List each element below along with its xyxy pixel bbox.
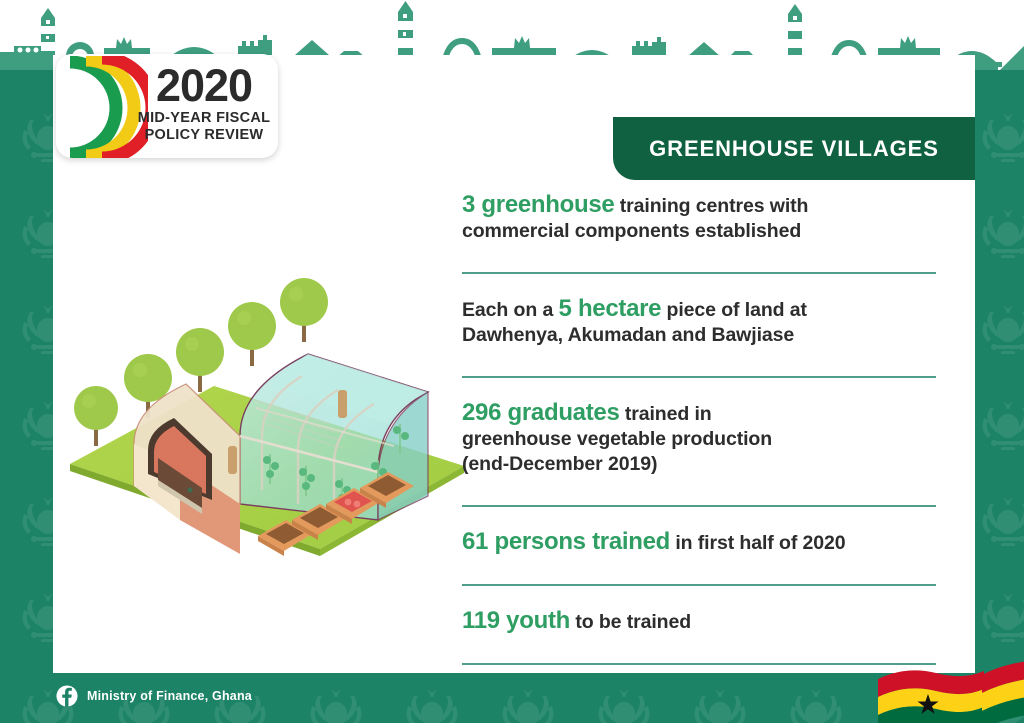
fact-text: Each on a 5 hectare piece of land at Daw…: [462, 296, 936, 348]
logo-subtitle-line2: POLICY REVIEW: [134, 127, 274, 144]
fact-normal: greenhouse vegetable production: [462, 428, 772, 450]
infographic-canvas: 2020 MID-YEAR FISCAL POLICY REVIEW GREEN…: [0, 0, 1024, 723]
fact-highlight: 3 greenhouse: [462, 191, 614, 218]
fact-item-hectare-locations: Each on a 5 hectare piece of land at Daw…: [462, 296, 936, 348]
fact-text: 61 persons trained in first half of 2020: [462, 529, 936, 556]
fact-normal: trained in: [620, 403, 712, 425]
banner-title: GREENHOUSE VILLAGES: [649, 136, 939, 162]
spacer: [462, 507, 936, 529]
fact-list: 3 greenhouse training centres with comme…: [462, 192, 936, 665]
spacer: [462, 348, 936, 376]
fact-item-youth-to-be-trained: 119 youth to be trained: [462, 608, 936, 635]
fact-item-training-centres: 3 greenhouse training centres with comme…: [462, 192, 936, 244]
fact-normal: commercial components established: [462, 220, 801, 242]
fact-normal: in first half of 2020: [670, 532, 846, 554]
spacer: [462, 556, 936, 584]
tree: [176, 328, 224, 392]
tree: [280, 278, 328, 342]
fiscal-policy-logo-badge: 2020 MID-YEAR FISCAL POLICY REVIEW: [56, 54, 278, 158]
section-banner: GREENHOUSE VILLAGES: [613, 117, 975, 180]
greenhouse-illustration: [62, 268, 472, 558]
fact-normal: Dawhenya, Akumadan and Bawjiase: [462, 324, 794, 346]
fact-normal: piece of land at: [661, 299, 807, 321]
fact-text: 296 graduates trained in greenhouse vege…: [462, 400, 936, 477]
fact-text: 119 youth to be trained: [462, 608, 936, 635]
logo-year: 2020: [134, 62, 274, 110]
ghana-flag-ribbon: [878, 659, 1024, 723]
fact-normal: to be trained: [570, 611, 691, 633]
spacer: [462, 477, 936, 505]
footer-text: Ministry of Finance, Ghana: [87, 689, 252, 703]
logo-text-group: 2020 MID-YEAR FISCAL POLICY REVIEW: [134, 62, 274, 144]
spacer: [462, 586, 936, 608]
fact-normal: training centres with: [614, 195, 808, 217]
fact-item-persons-trained-2020: 61 persons trained in first half of 2020: [462, 529, 936, 556]
fact-normal: (end-December 2019): [462, 453, 657, 475]
tree: [228, 302, 276, 366]
spacer: [462, 244, 936, 272]
fact-highlight: 5 hectare: [559, 295, 662, 322]
spacer: [462, 635, 936, 663]
fact-normal: Each on a: [462, 299, 559, 321]
fact-divider: [462, 663, 936, 665]
fact-highlight: 296 graduates: [462, 399, 620, 426]
facebook-icon[interactable]: [56, 685, 78, 707]
fact-highlight: 119 youth: [462, 607, 570, 634]
fact-item-graduates-trained: 296 graduates trained in greenhouse vege…: [462, 400, 936, 477]
footer-credit[interactable]: Ministry of Finance, Ghana: [56, 685, 252, 707]
tree: [74, 386, 118, 446]
spacer: [462, 378, 936, 400]
fact-text: 3 greenhouse training centres with comme…: [462, 192, 936, 244]
spacer: [462, 274, 936, 296]
fact-highlight: 61 persons trained: [462, 528, 670, 555]
logo-subtitle-line1: MID-YEAR FISCAL: [134, 110, 274, 127]
